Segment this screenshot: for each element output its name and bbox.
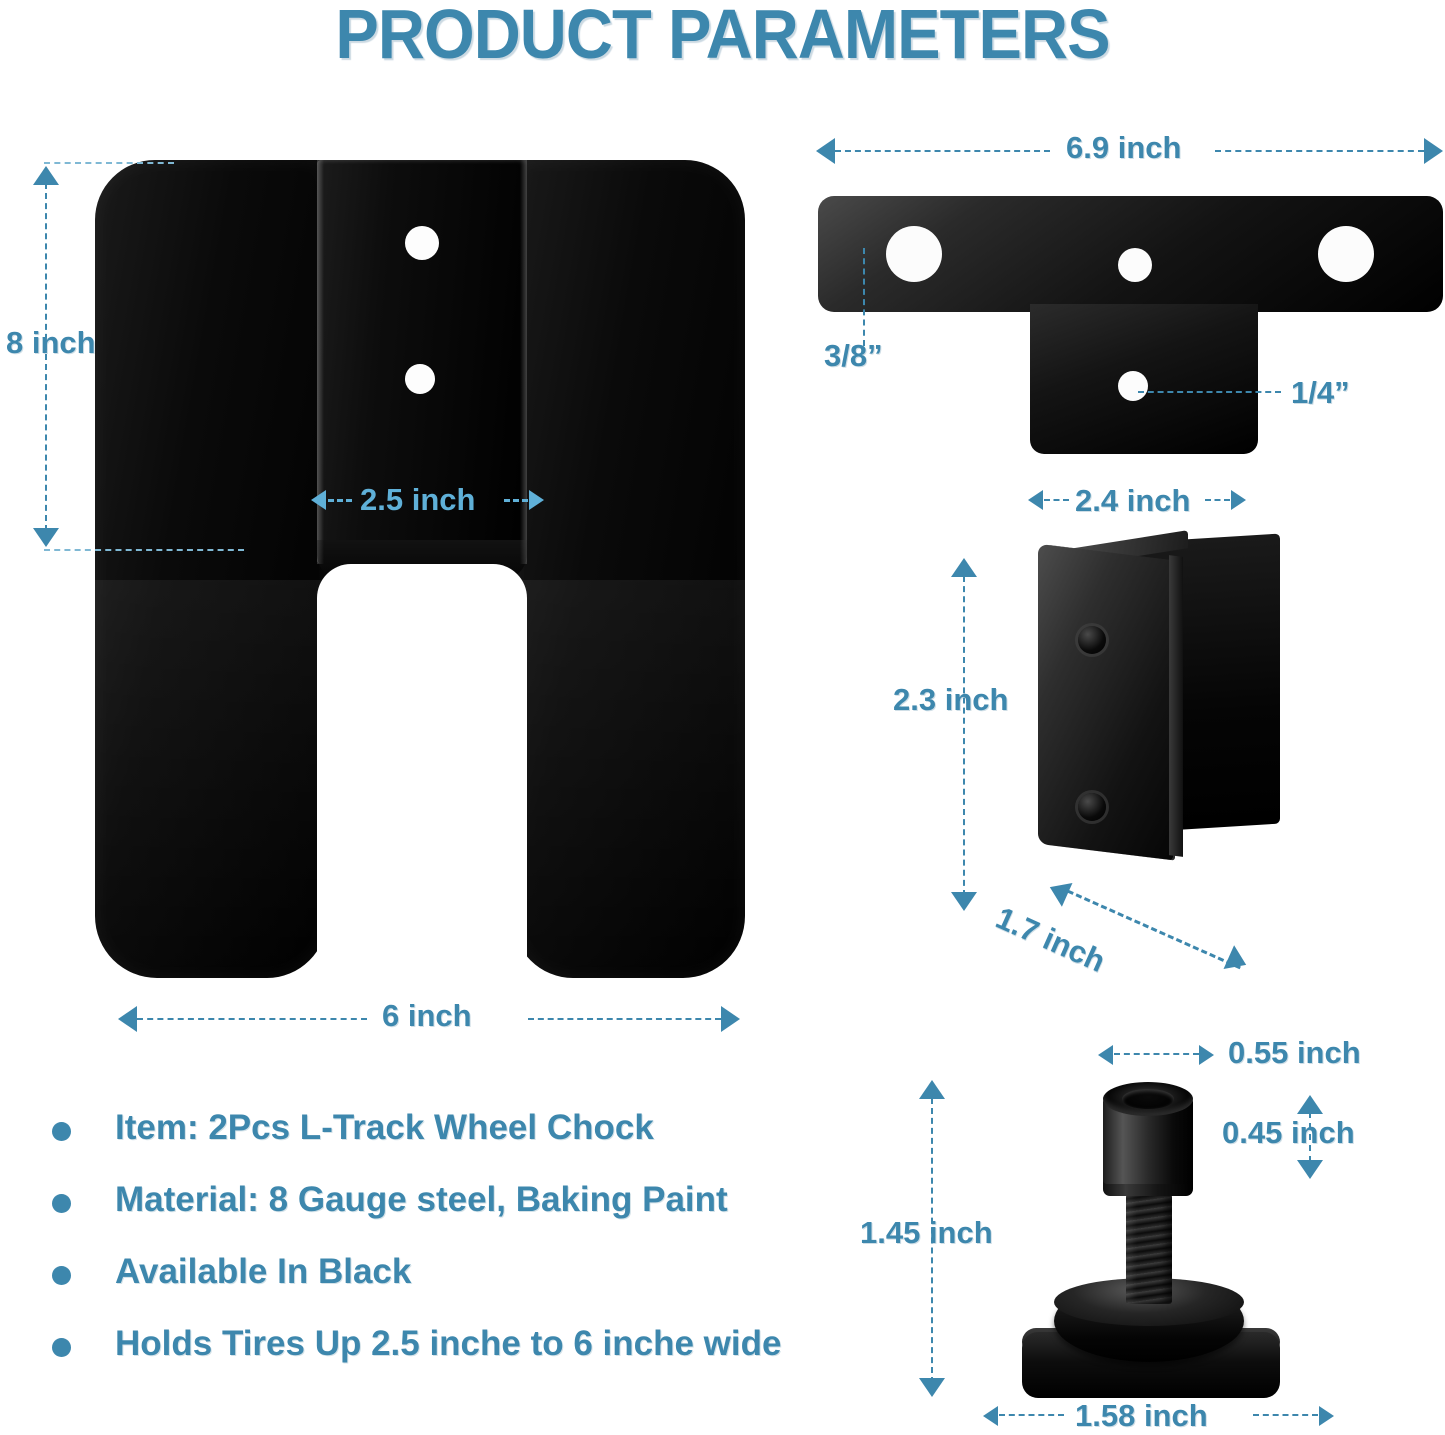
chock-inner-line-left: [328, 499, 352, 502]
lbracket-width-line-left: [1044, 499, 1069, 501]
chock-right-ridge: [520, 160, 527, 564]
dim-lbracket-height: 2.3 inch: [893, 682, 1008, 718]
list-item: Available In Black: [52, 1252, 912, 1324]
dim-lbracket-depth: 1.7 inch: [990, 900, 1110, 980]
lbracket-width-arrow-right: [1231, 490, 1246, 510]
bullet-icon: [52, 1266, 71, 1285]
spec-label: Item: 2Pcs L-Track Wheel Chock: [115, 1108, 654, 1148]
bolt-height-arrow-down: [919, 1378, 945, 1397]
page-title: PRODUCT PARAMETERS: [51, 0, 1395, 74]
tplate-width-arrow-left: [816, 138, 835, 164]
tplate-width-arrow-right: [1424, 138, 1443, 164]
chock-height-ext-bottom: [44, 549, 244, 551]
tplate-small-hole-leader: [1138, 391, 1281, 393]
t-plate-hole-left: [886, 226, 942, 282]
l-bracket-front-edge: [1169, 555, 1183, 857]
t-plate-hole-right: [1318, 226, 1374, 282]
tplate-width-line-left: [835, 150, 1050, 152]
chock-width-arrow-left: [118, 1006, 137, 1032]
bullet-icon: [52, 1338, 71, 1357]
dim-tplate-small-hole: 1/4”: [1291, 375, 1350, 411]
tplate-width-line-right: [1215, 150, 1424, 152]
tplate-large-hole-leader: [863, 248, 865, 346]
t-plate-hole-bottom: [1118, 371, 1148, 401]
bolt-nutwidth-arrow-left: [1098, 1045, 1113, 1065]
dim-tplate-width: 6.9 inch: [1066, 130, 1181, 166]
bolt-nutheight-arrow-down: [1297, 1160, 1323, 1179]
bolt-nutwidth-line: [1114, 1053, 1199, 1055]
dim-bolt-nut-width: 0.55 inch: [1228, 1035, 1361, 1071]
l-bracket-hole-top: [1078, 626, 1106, 654]
spec-label: Available In Black: [115, 1252, 411, 1292]
wheel-chock-illustration: [95, 160, 745, 980]
spec-label: Holds Tires Up 2.5 inche to 6 inche wide: [115, 1324, 781, 1364]
list-item: Material: 8 Gauge steel, Baking Paint: [52, 1180, 912, 1252]
bolt-threaded-shaft: [1126, 1194, 1172, 1304]
l-bracket-hole-bottom: [1078, 793, 1106, 821]
chock-width-arrow-right: [721, 1006, 740, 1032]
bolt-height-arrow-up: [919, 1080, 945, 1099]
lbracket-width-line-right: [1205, 499, 1230, 501]
chock-height-arrow-down: [33, 528, 59, 547]
dim-chock-height: 8 inch: [6, 325, 96, 361]
bolt-basewidth-line-left: [999, 1414, 1064, 1416]
t-plate-illustration: [818, 196, 1443, 454]
chock-width-line-right: [528, 1018, 721, 1020]
chock-inner-arrow-left: [311, 490, 326, 510]
l-bracket-illustration: [1030, 538, 1280, 856]
bolt-basewidth-arrow-right: [1319, 1406, 1334, 1426]
dim-bolt-nut-height: 0.45 inch: [1222, 1115, 1355, 1151]
lbracket-depth-arrow-left: [1045, 875, 1073, 906]
lbracket-depth-arrow-right: [1224, 945, 1252, 976]
chock-width-line-left: [137, 1018, 367, 1020]
list-item: Holds Tires Up 2.5 inche to 6 inche wide: [52, 1324, 912, 1396]
lbracket-width-arrow-left: [1028, 490, 1043, 510]
specs-list: Item: 2Pcs L-Track Wheel Chock Material:…: [52, 1108, 912, 1396]
bullet-icon: [52, 1122, 71, 1141]
dim-tplate-large-hole: 3/8”: [824, 338, 883, 374]
chock-inner-arrow-right: [529, 490, 544, 510]
dim-bolt-base-width: 1.58 inch: [1075, 1398, 1208, 1434]
chock-mid-hole: [405, 364, 435, 394]
l-bracket-front-plate: [1038, 544, 1173, 861]
bullet-icon: [52, 1194, 71, 1213]
chock-u-notch: [317, 564, 527, 984]
list-item: Item: 2Pcs L-Track Wheel Chock: [52, 1108, 912, 1180]
chock-height-ext-top: [44, 162, 174, 164]
dim-lbracket-width: 2.4 inch: [1075, 483, 1190, 519]
lbracket-height-arrow-down: [951, 892, 977, 911]
bolt-nut-bore: [1122, 1089, 1174, 1109]
spec-label: Material: 8 Gauge steel, Baking Paint: [115, 1180, 728, 1220]
t-plate-hole-center: [1118, 248, 1152, 282]
bolt-nutwidth-arrow-right: [1199, 1045, 1214, 1065]
chock-top-hole: [405, 226, 439, 260]
lbracket-height-arrow-up: [951, 558, 977, 577]
bolt-basewidth-arrow-left: [983, 1406, 998, 1426]
dim-chock-inner-width: 2.5 inch: [360, 482, 475, 518]
chock-left-prong: [95, 160, 327, 978]
lbracket-height-line: [963, 576, 965, 896]
bolt-basewidth-line-right: [1253, 1414, 1318, 1416]
chock-inner-line-right: [504, 499, 528, 502]
chock-right-prong: [513, 160, 745, 978]
dim-chock-width: 6 inch: [382, 998, 472, 1034]
